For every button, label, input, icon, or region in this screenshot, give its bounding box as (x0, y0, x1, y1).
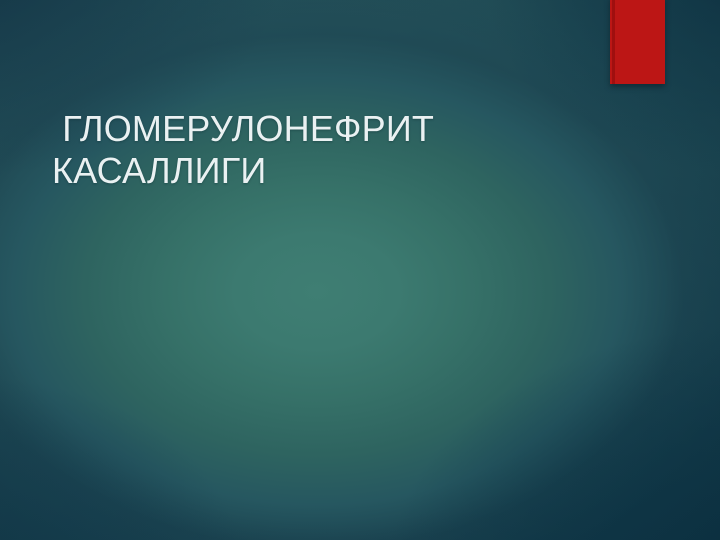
slide-title: ГЛОМЕРУЛОНЕФРИТ КАСАЛЛИГИ (52, 108, 612, 192)
title-placeholder[interactable]: ГЛОМЕРУЛОНЕФРИТ КАСАЛЛИГИ (52, 108, 612, 192)
red-accent-rectangle (610, 0, 665, 84)
slide-canvas: ГЛОМЕРУЛОНЕФРИТ КАСАЛЛИГИ (0, 0, 720, 540)
